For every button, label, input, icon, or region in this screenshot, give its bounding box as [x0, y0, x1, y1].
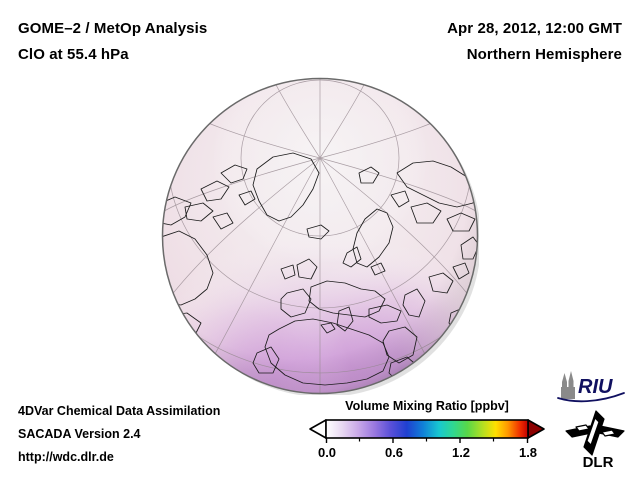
footer-left-block: 4DVar Chemical Data Assimilation SACADA … — [18, 400, 308, 469]
riu-logo: RIU — [556, 369, 634, 403]
colorbar-over-arrow — [528, 420, 544, 438]
riu-wordmark: RIU — [578, 376, 613, 398]
hemisphere-label: Northern Hemisphere — [322, 42, 622, 68]
header-right-block: Apr 28, 2012, 12:00 GMT Northern Hemisph… — [322, 16, 622, 68]
assimilation-label: 4DVar Chemical Data Assimilation — [18, 400, 308, 423]
colorbar-tick-labels: 0.0 0.6 1.2 1.8 — [308, 445, 546, 465]
cathedral-icon — [561, 371, 575, 399]
colorbar-tick-1: 0.6 — [385, 445, 403, 460]
dlr-logo: DLR — [562, 409, 634, 471]
website-link[interactable]: http://wdc.dlr.de — [18, 446, 308, 469]
colorbar-tick-3: 1.8 — [519, 445, 537, 460]
colorbar-gradient — [308, 418, 546, 444]
version-label: SACADA Version 2.4 — [18, 423, 308, 446]
species-level-subtitle: ClO at 55.4 hPa — [18, 42, 318, 68]
colorbar-title: Volume Mixing Ratio [ppbv] — [308, 398, 546, 415]
colorbar-tick-2: 1.2 — [452, 445, 470, 460]
header-left-block: GOME–2 / MetOp Analysis ClO at 55.4 hPa — [18, 16, 318, 68]
analysis-title: GOME–2 / MetOp Analysis — [18, 16, 318, 42]
colorbar-under-arrow — [310, 420, 326, 438]
globe-map — [161, 77, 479, 395]
dlr-wordmark: DLR — [583, 454, 614, 471]
dlr-pinwheel-icon — [566, 411, 624, 455]
colorbar-tick-0: 0.0 — [318, 445, 336, 460]
colorbar-bar — [326, 420, 528, 438]
colorbar: Volume Mixing Ratio [ppbv] — [308, 398, 546, 465]
timestamp-label: Apr 28, 2012, 12:00 GMT — [322, 16, 622, 42]
